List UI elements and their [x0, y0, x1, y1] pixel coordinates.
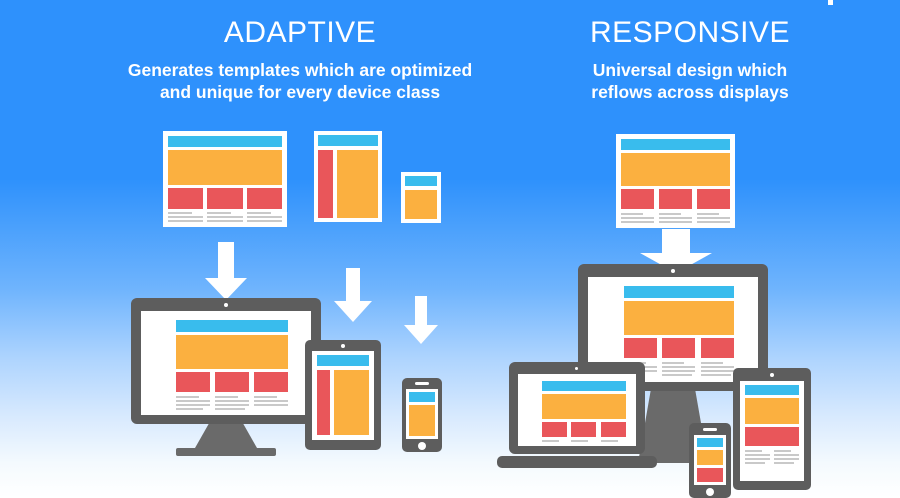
- adaptive-tablet: [305, 340, 381, 450]
- screen-text-line: [701, 362, 723, 364]
- template-card: [621, 189, 654, 209]
- screen-text-line: [774, 462, 794, 464]
- screen-text-line: [662, 362, 684, 364]
- screen-text-line: [774, 458, 799, 460]
- template-text-line: [697, 213, 719, 215]
- template-header-bar: [168, 136, 282, 147]
- adaptive-desktop-template: [163, 131, 287, 227]
- responsive-universal-template: [616, 134, 735, 228]
- template-hero-block: [337, 150, 378, 218]
- screen-card: [176, 372, 210, 392]
- phone-home-button: [418, 442, 426, 450]
- template-text-line: [247, 212, 271, 214]
- template-card: [659, 189, 692, 209]
- template-text-line: [168, 212, 192, 214]
- screen-text-line: [774, 454, 799, 456]
- adaptive-subtitle-line1: Generates templates which are optimized: [60, 59, 540, 81]
- screen-text-line: [571, 440, 588, 442]
- monitor-stand-neck: [195, 424, 257, 448]
- template-text-line: [247, 220, 282, 222]
- screen-text-line: [662, 370, 695, 372]
- screen-text-line: [254, 396, 277, 398]
- screen-header-bar: [176, 320, 288, 332]
- screen-text-line: [701, 366, 734, 368]
- template-text-line: [247, 216, 282, 218]
- screen-text-line: [662, 366, 695, 368]
- adaptive-tablet-arrow: [334, 268, 372, 322]
- screen-text-line: [601, 440, 618, 442]
- screen-text-line: [701, 374, 731, 376]
- template-text-line: [659, 217, 692, 219]
- screen-text-line: [745, 454, 770, 456]
- template-text-line: [168, 220, 203, 222]
- screen-text-line: [176, 408, 203, 410]
- screen-card: [745, 427, 799, 446]
- adaptive-phone: [402, 378, 442, 452]
- screen-text-line: [176, 404, 210, 406]
- screen-card: [254, 372, 288, 392]
- tablet-camera-dot: [770, 373, 774, 377]
- responsive-heading-block: RESPONSIVE Universal design which reflow…: [510, 16, 870, 104]
- adaptive-heading-block: ADAPTIVE Generates templates which are o…: [60, 16, 540, 104]
- monitor-camera-dot: [671, 269, 675, 273]
- tablet-screen: [740, 381, 804, 481]
- phone-screen: [694, 435, 726, 485]
- template-text-line: [207, 216, 243, 218]
- template-text-line: [659, 221, 692, 223]
- screen-text-line: [176, 396, 199, 398]
- template-text-line: [621, 221, 654, 223]
- template-text-line: [697, 221, 730, 223]
- template-header-bar: [318, 135, 378, 146]
- adaptive-tablet-template: [314, 131, 382, 222]
- template-hero-block: [405, 190, 437, 219]
- screen-text-line: [215, 396, 238, 398]
- screen-header-bar: [624, 286, 734, 298]
- adaptive-desktop-monitor: [131, 298, 321, 458]
- screen-hero-block: [409, 405, 435, 436]
- adaptive-title: ADAPTIVE: [60, 16, 540, 49]
- screen-header-bar: [697, 438, 723, 447]
- monitor-camera-dot: [224, 303, 228, 307]
- laptop-base: [497, 456, 657, 468]
- phone-home-button: [706, 488, 714, 496]
- template-header-bar: [405, 176, 437, 186]
- template-header-bar: [621, 139, 730, 150]
- responsive-phone: [689, 423, 731, 498]
- screen-hero-block: [176, 335, 288, 369]
- template-text-line: [207, 212, 231, 214]
- screen-text-line: [662, 374, 692, 376]
- monitor-stand-base: [176, 448, 276, 456]
- screen-header-bar: [409, 392, 435, 402]
- screen-text-line: [774, 450, 791, 452]
- screen-card: [215, 372, 249, 392]
- screen-hero-block: [745, 398, 799, 424]
- screen-text-line: [254, 400, 288, 402]
- screen-hero-block: [624, 301, 734, 335]
- screen-text-line: [745, 462, 765, 464]
- screen-text-line: [215, 404, 249, 406]
- tablet-camera-dot: [341, 344, 345, 348]
- responsive-subtitle-line2: reflows across displays: [510, 81, 870, 103]
- responsive-tablet: [733, 368, 811, 490]
- screen-card: [542, 422, 567, 437]
- template-hero-block: [168, 150, 282, 185]
- tablet-screen: [312, 351, 374, 440]
- template-text-line: [621, 213, 643, 215]
- laptop-camera-dot: [575, 367, 578, 370]
- screen-header-bar: [542, 381, 626, 391]
- screen-text-line: [701, 370, 734, 372]
- monitor-screen: [141, 311, 311, 415]
- corner-speck: [828, 0, 833, 5]
- phone-speaker-slot: [703, 428, 717, 431]
- screen-hero-block: [697, 450, 723, 465]
- responsive-laptop: [497, 362, 657, 472]
- screen-text-line: [254, 404, 288, 406]
- screen-text-line: [745, 458, 770, 460]
- screen-text-line: [176, 400, 210, 402]
- template-text-line: [659, 213, 681, 215]
- template-card: [247, 188, 282, 209]
- screen-hero-block: [334, 370, 369, 435]
- responsive-subtitle-line1: Universal design which: [510, 59, 870, 81]
- template-hero-block: [621, 153, 730, 186]
- screen-text-line: [542, 440, 559, 442]
- template-text-line: [621, 217, 654, 219]
- screen-text-line: [215, 400, 249, 402]
- phone-screen: [406, 389, 438, 439]
- template-text-line: [168, 216, 203, 218]
- screen-card: [697, 468, 723, 482]
- responsive-title: RESPONSIVE: [510, 16, 870, 49]
- template-card: [207, 188, 243, 209]
- infographic-canvas: ADAPTIVE Generates templates which are o…: [0, 0, 900, 498]
- screen-sidebar: [317, 370, 330, 435]
- screen-card: [624, 338, 657, 358]
- template-card: [168, 188, 203, 209]
- screen-card: [601, 422, 626, 437]
- phone-speaker-slot: [415, 382, 429, 385]
- screen-text-line: [745, 450, 762, 452]
- screen-header-bar: [317, 355, 369, 366]
- screen-card: [571, 422, 596, 437]
- adaptive-subtitle-line2: and unique for every device class: [60, 81, 540, 103]
- adaptive-desktop-arrow: [205, 242, 247, 300]
- template-card: [697, 189, 730, 209]
- screen-card: [701, 338, 734, 358]
- screen-header-bar: [745, 385, 799, 395]
- template-sidebar: [318, 150, 333, 218]
- screen-hero-block: [542, 394, 626, 419]
- screen-text-line: [215, 408, 245, 410]
- adaptive-phone-template: [401, 172, 441, 223]
- adaptive-phone-arrow: [404, 296, 438, 344]
- laptop-screen: [518, 374, 636, 446]
- template-text-line: [697, 217, 730, 219]
- screen-card: [662, 338, 695, 358]
- template-text-line: [207, 220, 243, 222]
